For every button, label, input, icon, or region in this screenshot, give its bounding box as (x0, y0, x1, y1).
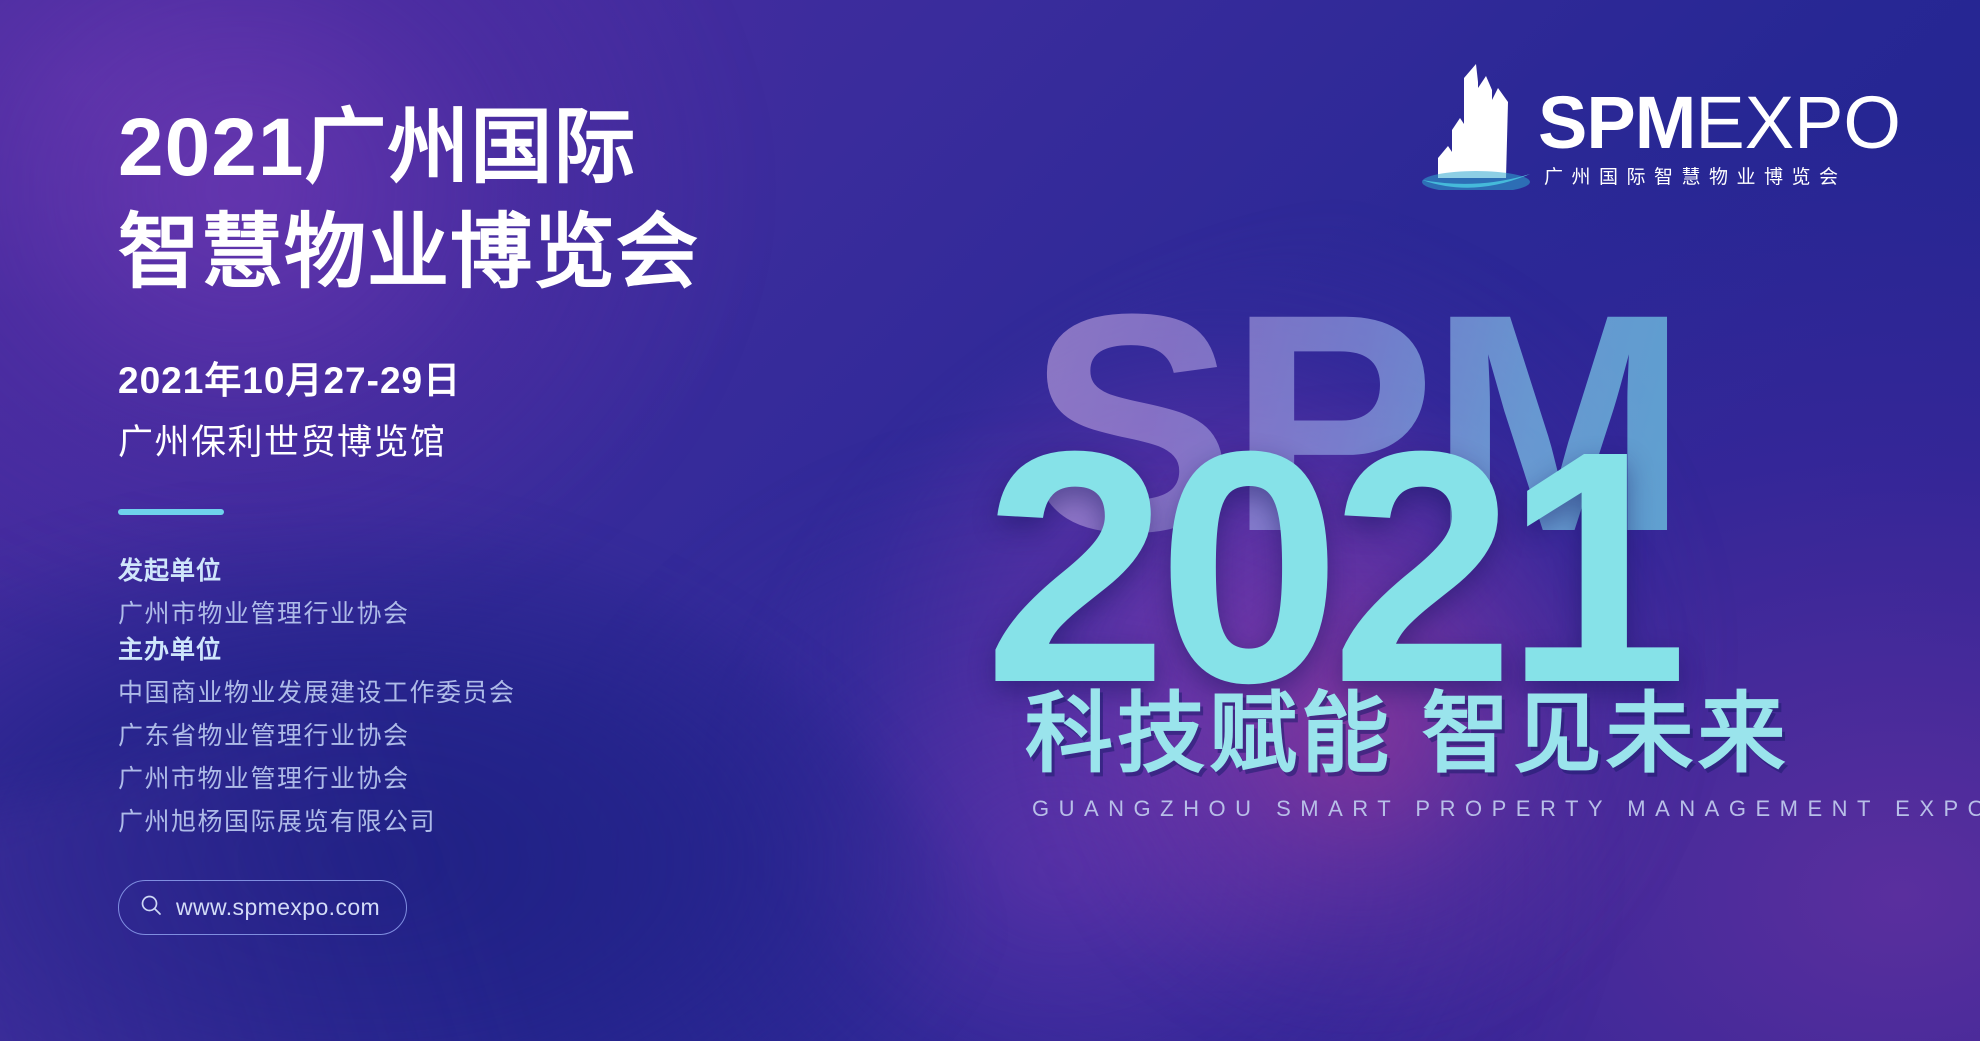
organizer-group-heading: 发起单位 (118, 551, 938, 587)
organizer-entry: 广州市物业管理行业协会 (118, 759, 938, 795)
website-link-pill[interactable]: www.spmexpo.com (118, 880, 407, 935)
logo-wordmark: SPMEXPO (1538, 80, 1901, 165)
event-venue: 广州保利世贸博览馆 (118, 414, 938, 465)
left-content-block: 2021广州国际 智慧物业博览会 2021年10月27-29日 广州保利世贸博览… (118, 96, 938, 935)
organizers-list: 发起单位 广州市物业管理行业协会 主办单位 中国商业物业发展建设工作委员会 广东… (118, 551, 938, 838)
organizer-entry: 中国商业物业发展建设工作委员会 (118, 673, 938, 709)
hero-artwork: SPM 2021 科技赋能 智见未来 GUANGZHOU SMART PROPE… (1010, 290, 1980, 810)
logo-spm-text: SPM (1538, 81, 1695, 164)
title-line-1: 2021广州国际 (118, 96, 938, 201)
slogan-chinese: 科技赋能 智见未来 (1025, 690, 1789, 778)
title-line-2: 智慧物业博览会 (118, 201, 938, 306)
logo-subtitle-cn: 广州国际智慧物业博览会 (1544, 162, 1847, 189)
slogan-english: GUANGZHOU SMART PROPERTY MANAGEMENT EXPO (1032, 796, 1980, 822)
event-poster: SPM 2021 科技赋能 智见未来 GUANGZHOU SMART PROPE… (0, 0, 1980, 1041)
search-icon (139, 893, 163, 922)
building-skyline-icon (1420, 62, 1532, 190)
organizer-group: 主办单位 中国商业物业发展建设工作委员会 广东省物业管理行业协会 广州市物业管理… (118, 630, 938, 838)
section-divider (118, 509, 224, 515)
year-display-2021: 2021 (984, 402, 1678, 732)
organizer-entry: 广州旭杨国际展览有限公司 (118, 802, 938, 838)
event-date: 2021年10月27-29日 (118, 350, 938, 404)
organizer-group: 发起单位 广州市物业管理行业协会 (118, 551, 938, 630)
website-url-text: www.spmexpo.com (176, 894, 380, 921)
page-title: 2021广州国际 智慧物业博览会 (118, 96, 938, 306)
organizer-entry: 广州市物业管理行业协会 (118, 594, 938, 630)
organizer-entry: 广东省物业管理行业协会 (118, 716, 938, 752)
organizer-group-heading: 主办单位 (118, 630, 938, 666)
spmexpo-logo: SPMEXPO 广州国际智慧物业博览会 (1420, 62, 1920, 192)
logo-expo-text: EXPO (1695, 81, 1901, 164)
